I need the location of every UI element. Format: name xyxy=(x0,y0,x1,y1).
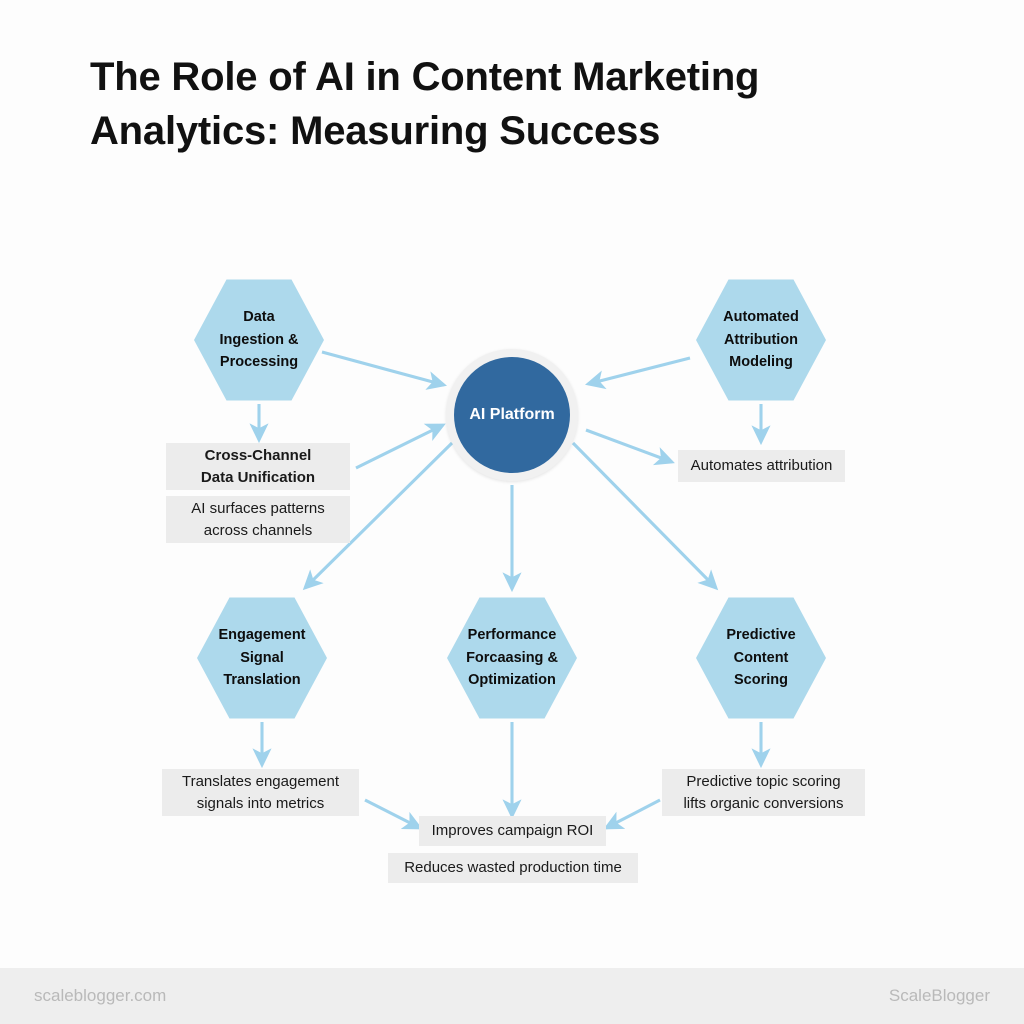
edge-ingestion-to-platform xyxy=(322,352,444,385)
node-automated-attribution-label: AutomatedAttributionModeling xyxy=(717,306,805,374)
edge-topic-to-roi xyxy=(606,800,660,828)
note-predictive-topic-text: Predictive topic scoringlifts organic co… xyxy=(683,771,843,815)
note-cross-channel-title-text: Cross-ChannelData Unification xyxy=(201,445,315,489)
edge-attribution-to-platform xyxy=(588,358,690,384)
node-performance-forecasting-label: PerformanceForcaasing &Optimization xyxy=(460,624,564,692)
edge-translates-to-roi xyxy=(365,800,420,828)
footer-brand-name: ScaleBlogger xyxy=(889,986,990,1006)
note-improves-roi-text: Improves campaign ROI xyxy=(432,820,594,842)
node-data-ingestion-label: DataIngestion &Processing xyxy=(214,306,305,374)
note-reduces-waste-text: Reduces wasted production time xyxy=(404,857,622,879)
edge-platform-to-automates xyxy=(586,430,672,462)
note-improves-roi: Improves campaign ROI xyxy=(419,816,606,846)
node-ai-platform[interactable]: AI Platform xyxy=(446,349,578,481)
note-reduces-waste: Reduces wasted production time xyxy=(388,853,638,883)
note-cross-channel-desc-text: AI surfaces patternsacross channels xyxy=(191,498,324,542)
node-ai-platform-label: AI Platform xyxy=(469,405,554,425)
edge-crosschannel-to-platform xyxy=(356,425,443,468)
node-predictive-scoring-label: PredictiveContentScoring xyxy=(720,624,801,692)
footer-bar: scaleblogger.com ScaleBlogger xyxy=(0,968,1024,1024)
note-automates-attribution: Automates attribution xyxy=(678,450,845,482)
note-cross-channel-title: Cross-ChannelData Unification xyxy=(166,443,350,490)
note-cross-channel-desc: AI surfaces patternsacross channels xyxy=(166,496,350,543)
note-automates-attribution-text: Automates attribution xyxy=(691,455,833,477)
note-translates-engagement: Translates engagementsignals into metric… xyxy=(162,769,359,816)
footer-site-url[interactable]: scaleblogger.com xyxy=(34,986,166,1006)
node-engagement-signal-label: EngagementSignalTranslation xyxy=(212,624,311,692)
note-predictive-topic: Predictive topic scoringlifts organic co… xyxy=(662,769,865,816)
node-ai-platform-disc: AI Platform xyxy=(454,357,570,473)
note-translates-engagement-text: Translates engagementsignals into metric… xyxy=(182,771,339,815)
diagram-canvas: DataIngestion &Processing AutomatedAttri… xyxy=(0,0,1024,1024)
